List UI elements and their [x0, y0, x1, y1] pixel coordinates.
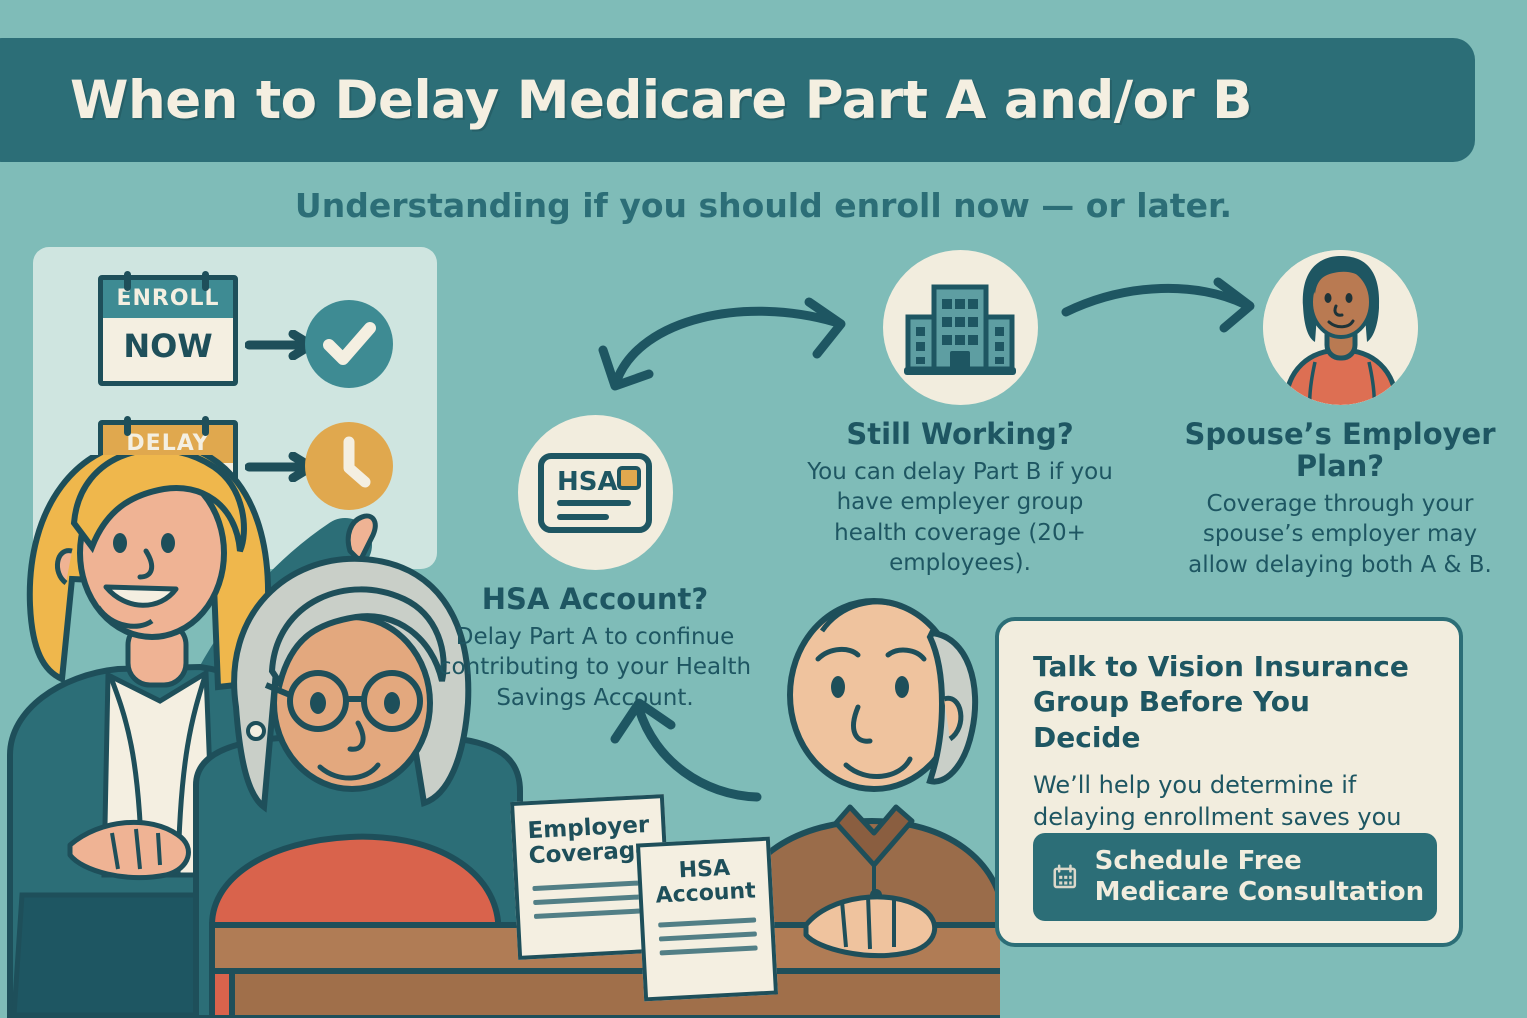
node-still-working: Still Working? You can delay Part B if y… — [800, 250, 1120, 578]
hsa-account-doc-label: HSAAccount — [641, 855, 769, 910]
person-avatar-icon — [1263, 250, 1418, 405]
calendar-ring-icon — [124, 271, 131, 291]
node-hsa-account: HSA HSA Account? Delay Part A to confinu… — [432, 415, 758, 713]
office-building-icon — [900, 273, 1020, 383]
schedule-consultation-button[interactable]: Schedule Free Medicare Consultation — [1033, 833, 1437, 921]
check-icon — [305, 300, 393, 388]
office-building-icon-circle — [883, 250, 1038, 405]
cta-title: Talk to Vision Insurance Group Before Yo… — [1033, 649, 1427, 755]
calendar-ring-icon — [124, 416, 131, 436]
hsa-card-icon-circle: HSA — [518, 415, 673, 570]
header-banner: When to Delay Medicare Part A and/or B — [0, 38, 1475, 162]
hsa-card-icon: HSA — [535, 448, 655, 538]
page-title: When to Delay Medicare Part A and/or B — [70, 70, 1252, 131]
calendar-ring-icon — [202, 416, 209, 436]
calendar-enroll-now: ENROLL NOW — [98, 275, 238, 386]
schedule-consultation-label: Schedule Free Medicare Consultation — [1095, 846, 1437, 907]
cta-card: Talk to Vision Insurance Group Before Yo… — [995, 617, 1463, 947]
calendar-enroll-head: ENROLL — [103, 280, 233, 318]
node-hsa-account-text: Delay Part A to confinue contributing to… — [432, 622, 758, 713]
check-badge — [305, 300, 393, 388]
calendar-icon — [1051, 855, 1079, 899]
node-still-working-title: Still Working? — [800, 419, 1120, 451]
calendar-ring-icon — [202, 271, 209, 291]
page-subtitle: Understanding if you should enroll now —… — [0, 186, 1527, 225]
calendar-enroll-body: NOW — [103, 318, 233, 381]
person-avatar-icon-circle — [1263, 250, 1418, 405]
node-spouse-employer-plan-title: Spouse’s Employer Plan? — [1180, 419, 1500, 483]
infographic-canvas: When to Delay Medicare Part A and/or B U… — [0, 0, 1527, 1018]
node-still-working-text: You can delay Part B if you have empleye… — [800, 457, 1120, 578]
node-spouse-employer-plan: Spouse’s Employer Plan? Coverage through… — [1180, 250, 1500, 580]
node-spouse-employer-plan-text: Coverage through your spouse’s employer … — [1180, 489, 1500, 580]
node-hsa-account-title: HSA Account? — [432, 584, 758, 616]
hsa-account-doc: HSAAccount — [636, 837, 778, 1002]
svg-text:HSA: HSA — [557, 467, 618, 497]
